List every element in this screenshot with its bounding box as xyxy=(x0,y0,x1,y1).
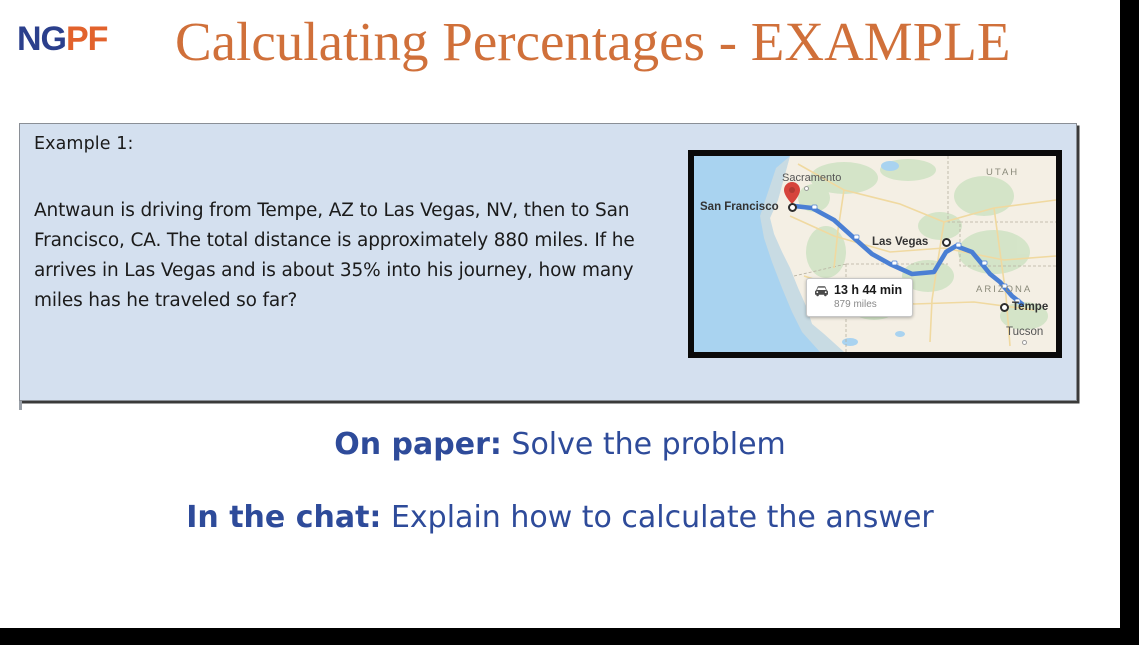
map-pin-icon xyxy=(784,182,800,204)
ngpf-logo: NGPF xyxy=(17,22,107,56)
map-marker-tempe xyxy=(1000,303,1009,312)
slide-frame-right xyxy=(1120,0,1139,645)
map-terrain-graphic xyxy=(694,156,1056,352)
route-map-image: Sacramento San Francisco Las Vegas Tempe… xyxy=(688,150,1062,358)
map-marker-san-francisco xyxy=(788,203,797,212)
car-icon xyxy=(814,285,829,297)
map-canvas: Sacramento San Francisco Las Vegas Tempe… xyxy=(694,156,1056,352)
panel-corner-tick xyxy=(19,401,22,410)
logo-text-ng: NG xyxy=(17,20,66,58)
instruction-in-the-chat: In the chat: Explain how to calculate th… xyxy=(0,503,1120,533)
slide-canvas: NGPF Calculating Percentages - EXAMPLE E… xyxy=(0,0,1139,645)
tooltip-distance: 879 miles xyxy=(834,298,902,311)
page-title: Calculating Percentages - EXAMPLE xyxy=(175,8,1105,77)
slide-frame-bottom xyxy=(0,628,1139,645)
example-label: Example 1: xyxy=(34,134,134,154)
map-marker-las-vegas xyxy=(942,238,951,247)
instruction-on-paper: On paper: Solve the problem xyxy=(0,430,1120,460)
instruction-in-the-chat-lead: In the chat: xyxy=(186,500,381,535)
map-marker-tucson xyxy=(1022,340,1027,345)
instructions-block: On paper: Solve the problem In the chat:… xyxy=(0,430,1120,533)
route-duration-tooltip: 13 h 44 min 879 miles xyxy=(806,278,913,317)
instruction-on-paper-lead: On paper: xyxy=(334,427,502,462)
instruction-on-paper-rest: Solve the problem xyxy=(502,427,786,462)
example-problem-text: Antwaun is driving from Tempe, AZ to Las… xyxy=(34,196,674,316)
slide-header: NGPF Calculating Percentages - EXAMPLE xyxy=(0,0,1120,100)
instruction-in-the-chat-rest: Explain how to calculate the answer xyxy=(381,500,933,535)
map-marker-sacramento xyxy=(804,186,809,191)
logo-text-pf: PF xyxy=(66,20,107,58)
tooltip-duration: 13 h 44 min xyxy=(834,284,902,298)
